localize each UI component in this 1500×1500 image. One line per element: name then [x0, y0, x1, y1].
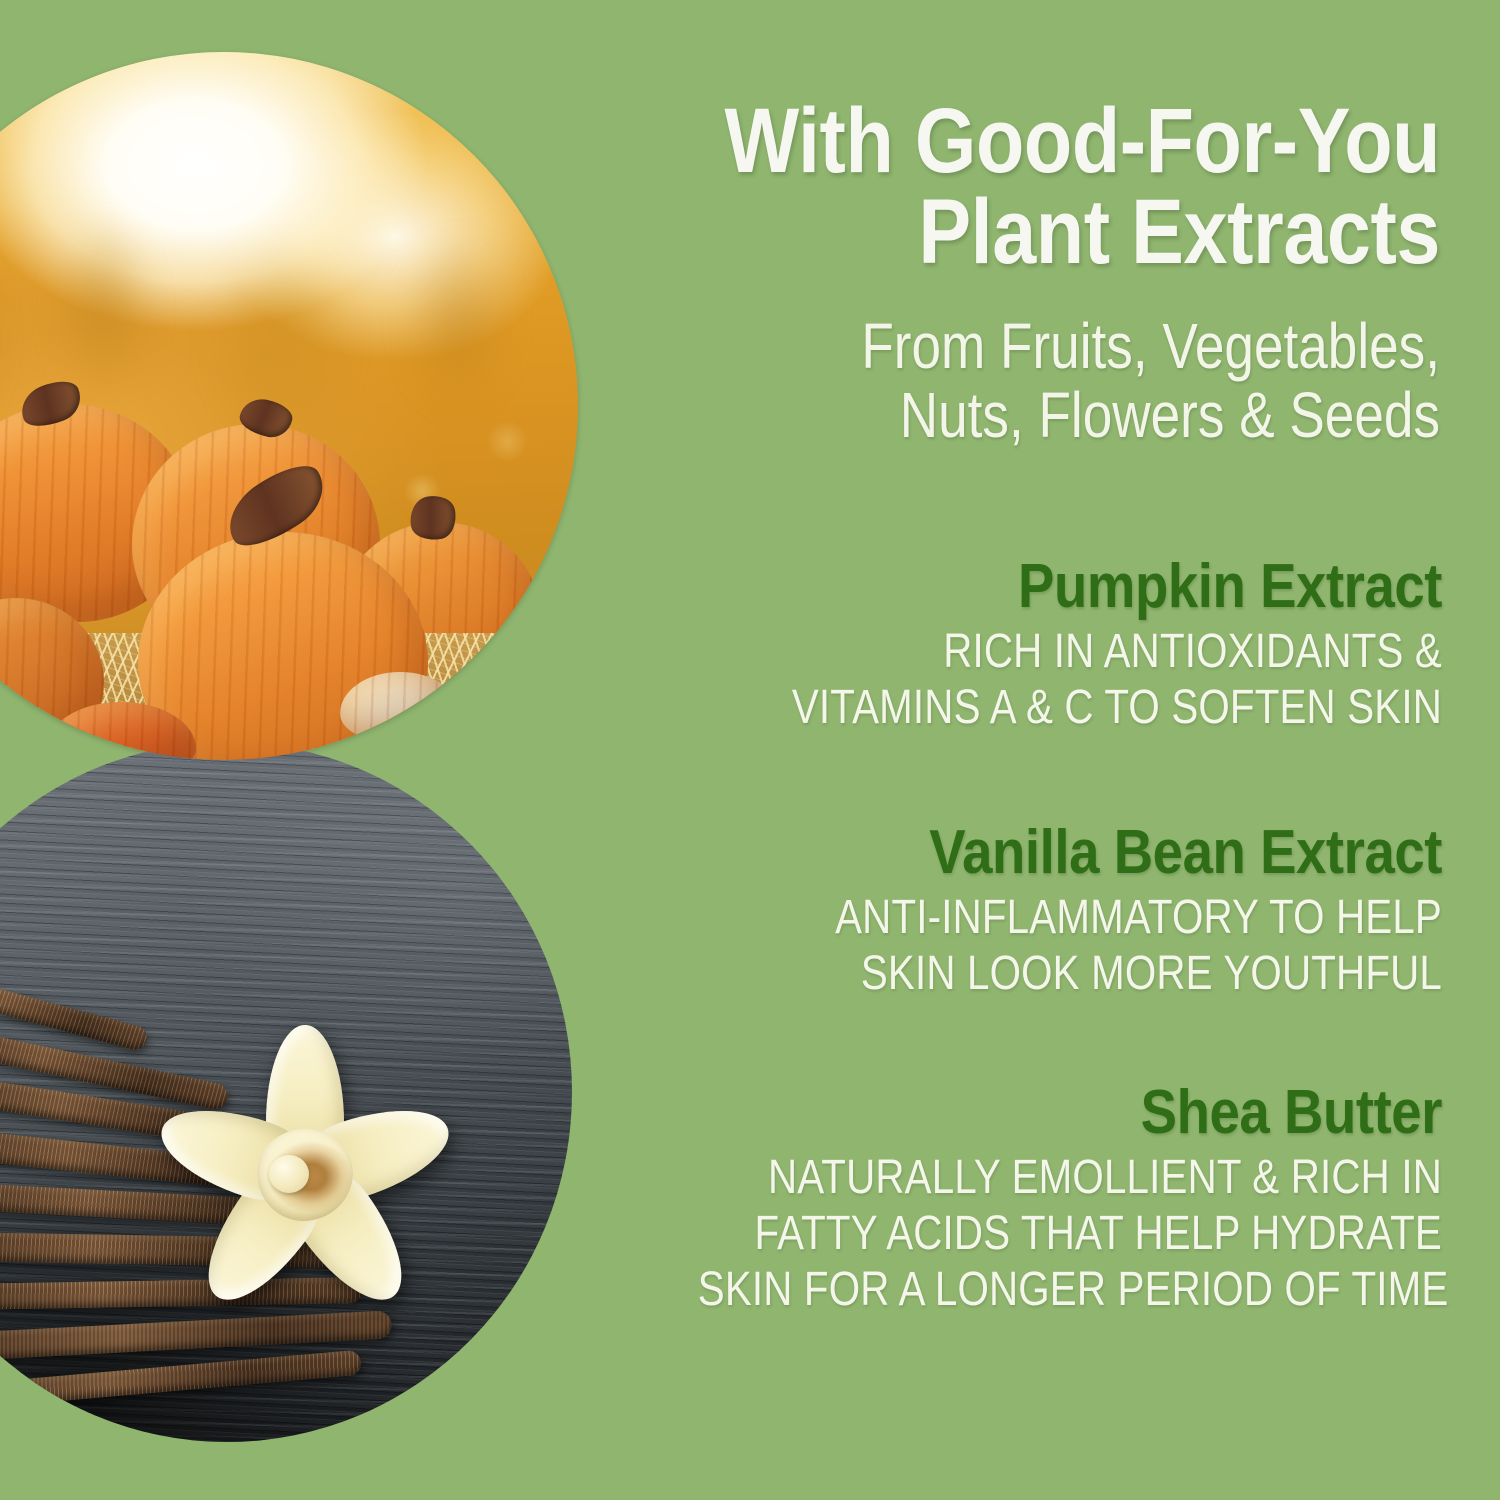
- ingredient-title: Shea Butter: [662, 1082, 1442, 1144]
- ingredient-desc-line: ANTI-INFLAMMATORY TO HELP: [698, 890, 1442, 946]
- text-column: With Good-For-You Plant Extracts From Fr…: [590, 0, 1470, 1500]
- product-feature-banner: With Good-For-You Plant Extracts From Fr…: [0, 0, 1500, 1500]
- ingredient-desc-line: SKIN FOR A LONGER PERIOD OF TIME: [698, 1262, 1442, 1318]
- ingredient-title: Pumpkin Extract: [662, 556, 1442, 618]
- pumpkin-photo-circle: [0, 52, 578, 760]
- ingredient-desc-line: SKIN LOOK MORE YOUTHFUL: [698, 946, 1442, 1002]
- orchid-column: [269, 1155, 309, 1193]
- subheadline-line-2: Nuts, Flowers & Seeds: [710, 381, 1440, 450]
- headline-block: With Good-For-You Plant Extracts: [560, 96, 1440, 278]
- ingredient-desc-line: NATURALLY EMOLLIENT & RICH IN: [698, 1150, 1442, 1206]
- subheadline-block: From Fruits, Vegetables, Nuts, Flowers &…: [560, 312, 1440, 450]
- vanilla-orchid-flower: [140, 1010, 470, 1340]
- headline-line-2: Plant Extracts: [683, 187, 1440, 278]
- ingredient-block-shea-butter: Shea Butter NATURALLY EMOLLIENT & RICH I…: [556, 1082, 1442, 1318]
- headline-line-1: With Good-For-You: [683, 96, 1440, 187]
- subheadline-line-1: From Fruits, Vegetables,: [710, 312, 1440, 381]
- ingredient-desc-line: VITAMINS A & C TO SOFTEN SKIN: [698, 680, 1442, 736]
- ingredient-desc-line: FATTY ACIDS THAT HELP HYDRATE: [698, 1206, 1442, 1262]
- ingredient-desc-line: RICH IN ANTIOXIDANTS &: [698, 624, 1442, 680]
- ingredient-block-pumpkin-extract: Pumpkin Extract RICH IN ANTIOXIDANTS & V…: [556, 556, 1442, 736]
- ingredient-title: Vanilla Bean Extract: [662, 822, 1442, 884]
- ingredient-block-vanilla-bean-extract: Vanilla Bean Extract ANTI-INFLAMMATORY T…: [556, 822, 1442, 1002]
